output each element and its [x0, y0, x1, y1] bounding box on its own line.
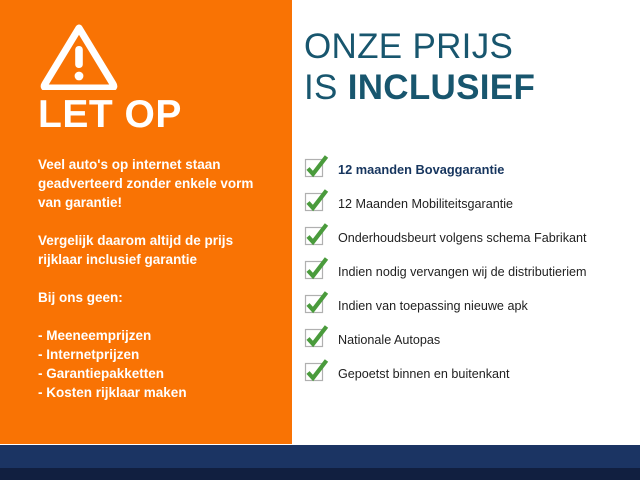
footer-navy-bar: [0, 445, 640, 468]
feature-label: Indien nodig vervangen wij de distributi…: [338, 264, 587, 280]
green-check-box-icon: [304, 362, 326, 384]
list-item: - Garantiepakketten: [38, 364, 278, 383]
green-check-box-icon: [304, 328, 326, 350]
feature-label: Onderhoudsbeurt volgens schema Fabrikant: [338, 230, 587, 246]
warning-body-text: Veel auto's op internet staan geadvertee…: [38, 155, 278, 402]
list-item: Indien van toepassing nieuwe apk: [302, 289, 638, 323]
list-item: - Internetprijzen: [38, 345, 278, 364]
feature-label: Indien van toepassing nieuwe apk: [338, 298, 528, 314]
green-check-box-icon: [304, 226, 326, 248]
list-item: 12 maanden Bovaggarantie: [302, 153, 638, 187]
list-item: - Kosten rijklaar maken: [38, 383, 278, 402]
list-item: Onderhoudsbeurt volgens schema Fabrikant: [302, 221, 638, 255]
list-item: Gepoetst binnen en buitenkant: [302, 357, 638, 391]
warning-paragraph-2: Vergelijk daarom altijd de prijs rijklaa…: [38, 231, 278, 269]
page-title: LET OP: [38, 93, 182, 136]
inclusive-panel: ONZE PRIJS IS INCLUSIEF 12 maanden Bovag…: [292, 0, 640, 444]
list-item: - Meeneemprijzen: [38, 326, 278, 345]
warning-paragraph-1: Veel auto's op internet staan geadvertee…: [38, 155, 278, 212]
list-item: 12 Maanden Mobiliteitsgarantie: [302, 187, 638, 221]
green-check-box-icon: [304, 192, 326, 214]
warning-paragraph-3: Bij ons geen:: [38, 288, 278, 307]
green-check-box-icon: [304, 260, 326, 282]
inclusive-feature-list: 12 maanden Bovaggarantie 12 Maanden Mobi…: [302, 153, 638, 391]
headline-line-2-prefix: IS: [304, 68, 348, 107]
green-check-box-icon: [304, 158, 326, 180]
green-check-box-icon: [304, 294, 326, 316]
warning-triangle-icon: [40, 22, 118, 90]
feature-label: 12 maanden Bovaggarantie: [338, 162, 504, 178]
list-item: Indien nodig vervangen wij de distributi…: [302, 255, 638, 289]
feature-label: Gepoetst binnen en buitenkant: [338, 366, 510, 382]
headline: ONZE PRIJS IS INCLUSIEF: [304, 26, 535, 108]
headline-line-2: IS INCLUSIEF: [304, 67, 535, 108]
feature-label: 12 Maanden Mobiliteitsgarantie: [338, 196, 513, 212]
warning-panel: LET OP Veel auto's op internet staan gea…: [0, 0, 292, 444]
footer-navy-dark-bar: [0, 468, 640, 480]
headline-line-2-strong: INCLUSIEF: [348, 68, 535, 107]
headline-line-1: ONZE PRIJS: [304, 27, 513, 66]
promo-banner: LET OP Veel auto's op internet staan gea…: [0, 0, 640, 480]
list-item: Nationale Autopas: [302, 323, 638, 357]
feature-label: Nationale Autopas: [338, 332, 440, 348]
exclusion-list: - Meeneemprijzen - Internetprijzen - Gar…: [38, 326, 278, 402]
